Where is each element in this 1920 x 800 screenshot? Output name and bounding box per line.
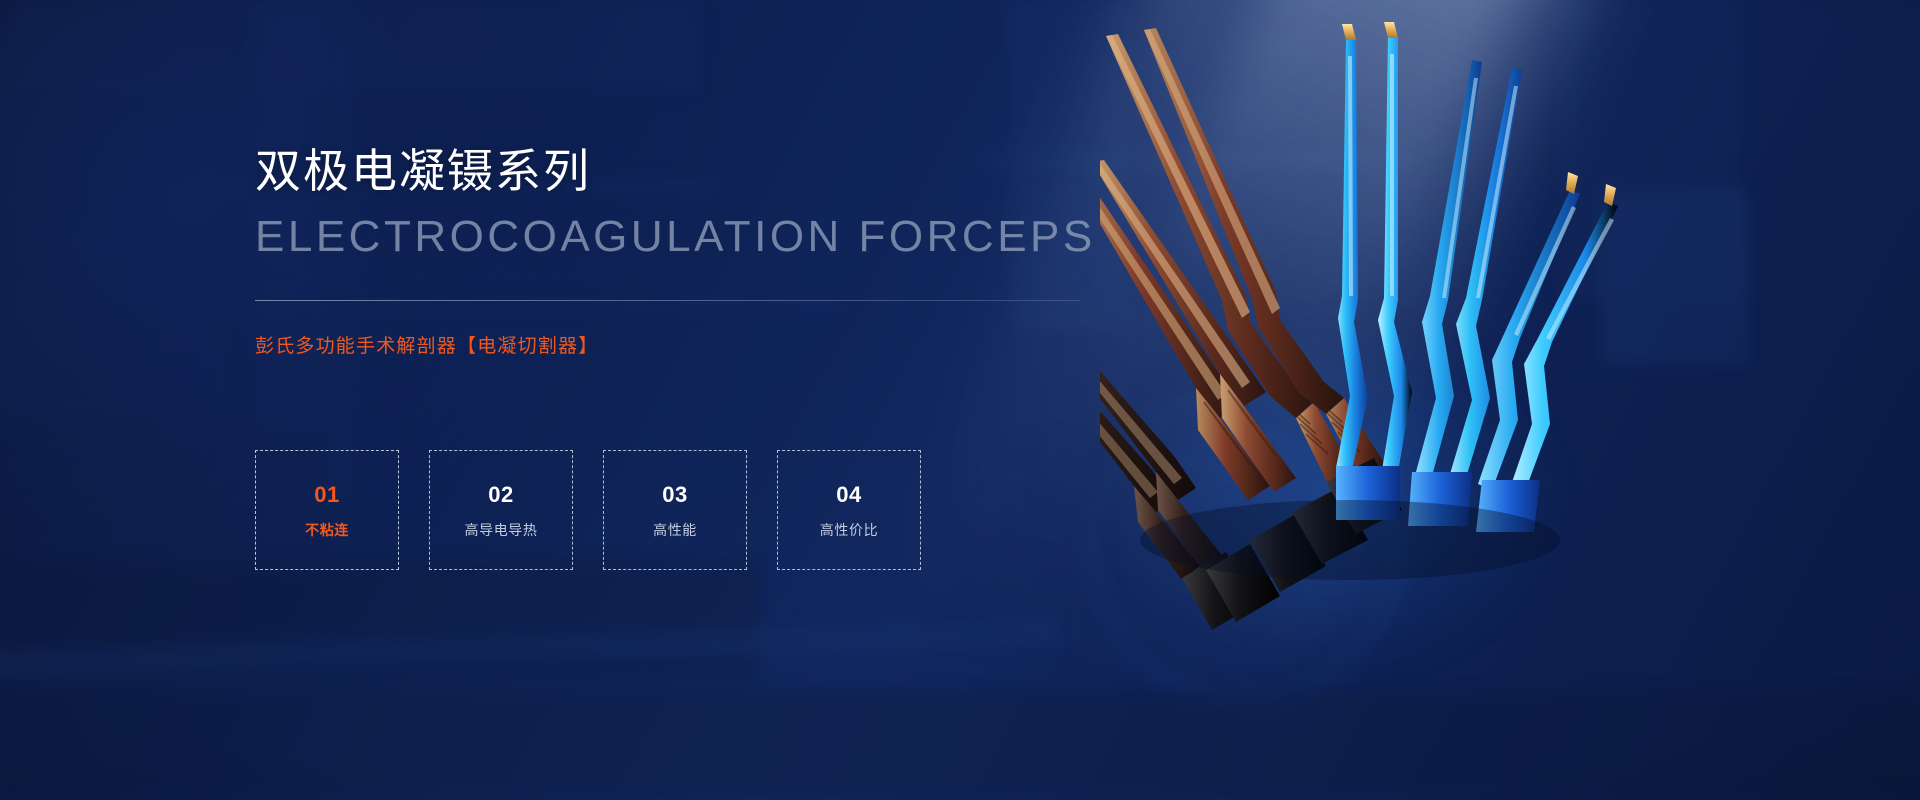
forceps-blue-2 [1378, 22, 1412, 472]
feature-list: 01 不粘连 02 高导电导热 03 高性能 04 高性价比 [255, 450, 921, 570]
hero-text-block: 双极电凝镊系列 ELECTROCOAGULATION FORCEPS 彭氏多功能… [255, 0, 1075, 800]
feature-number: 04 [836, 484, 861, 506]
title-divider [255, 300, 1080, 301]
feature-number: 01 [314, 484, 339, 506]
feature-card-01[interactable]: 01 不粘连 [255, 450, 399, 570]
feature-card-04[interactable]: 04 高性价比 [777, 450, 921, 570]
product-hero-banner: 双极电凝镊系列 ELECTROCOAGULATION FORCEPS 彭氏多功能… [0, 0, 1920, 800]
feature-number: 03 [662, 484, 687, 506]
feature-label: 高性能 [653, 523, 697, 537]
page-title-cn: 双极电凝镊系列 [255, 148, 591, 194]
feature-card-02[interactable]: 02 高导电导热 [429, 450, 573, 570]
page-title-en: ELECTROCOAGULATION FORCEPS [255, 215, 1096, 259]
feature-label: 不粘连 [305, 523, 349, 537]
feature-label: 高导电导热 [465, 523, 538, 537]
product-image-forceps [1100, 0, 1660, 800]
feature-label: 高性价比 [820, 523, 878, 537]
feature-number: 02 [488, 484, 513, 506]
feature-card-03[interactable]: 03 高性能 [603, 450, 747, 570]
product-subtitle: 彭氏多功能手术解剖器【电凝切割器】 [255, 337, 598, 356]
